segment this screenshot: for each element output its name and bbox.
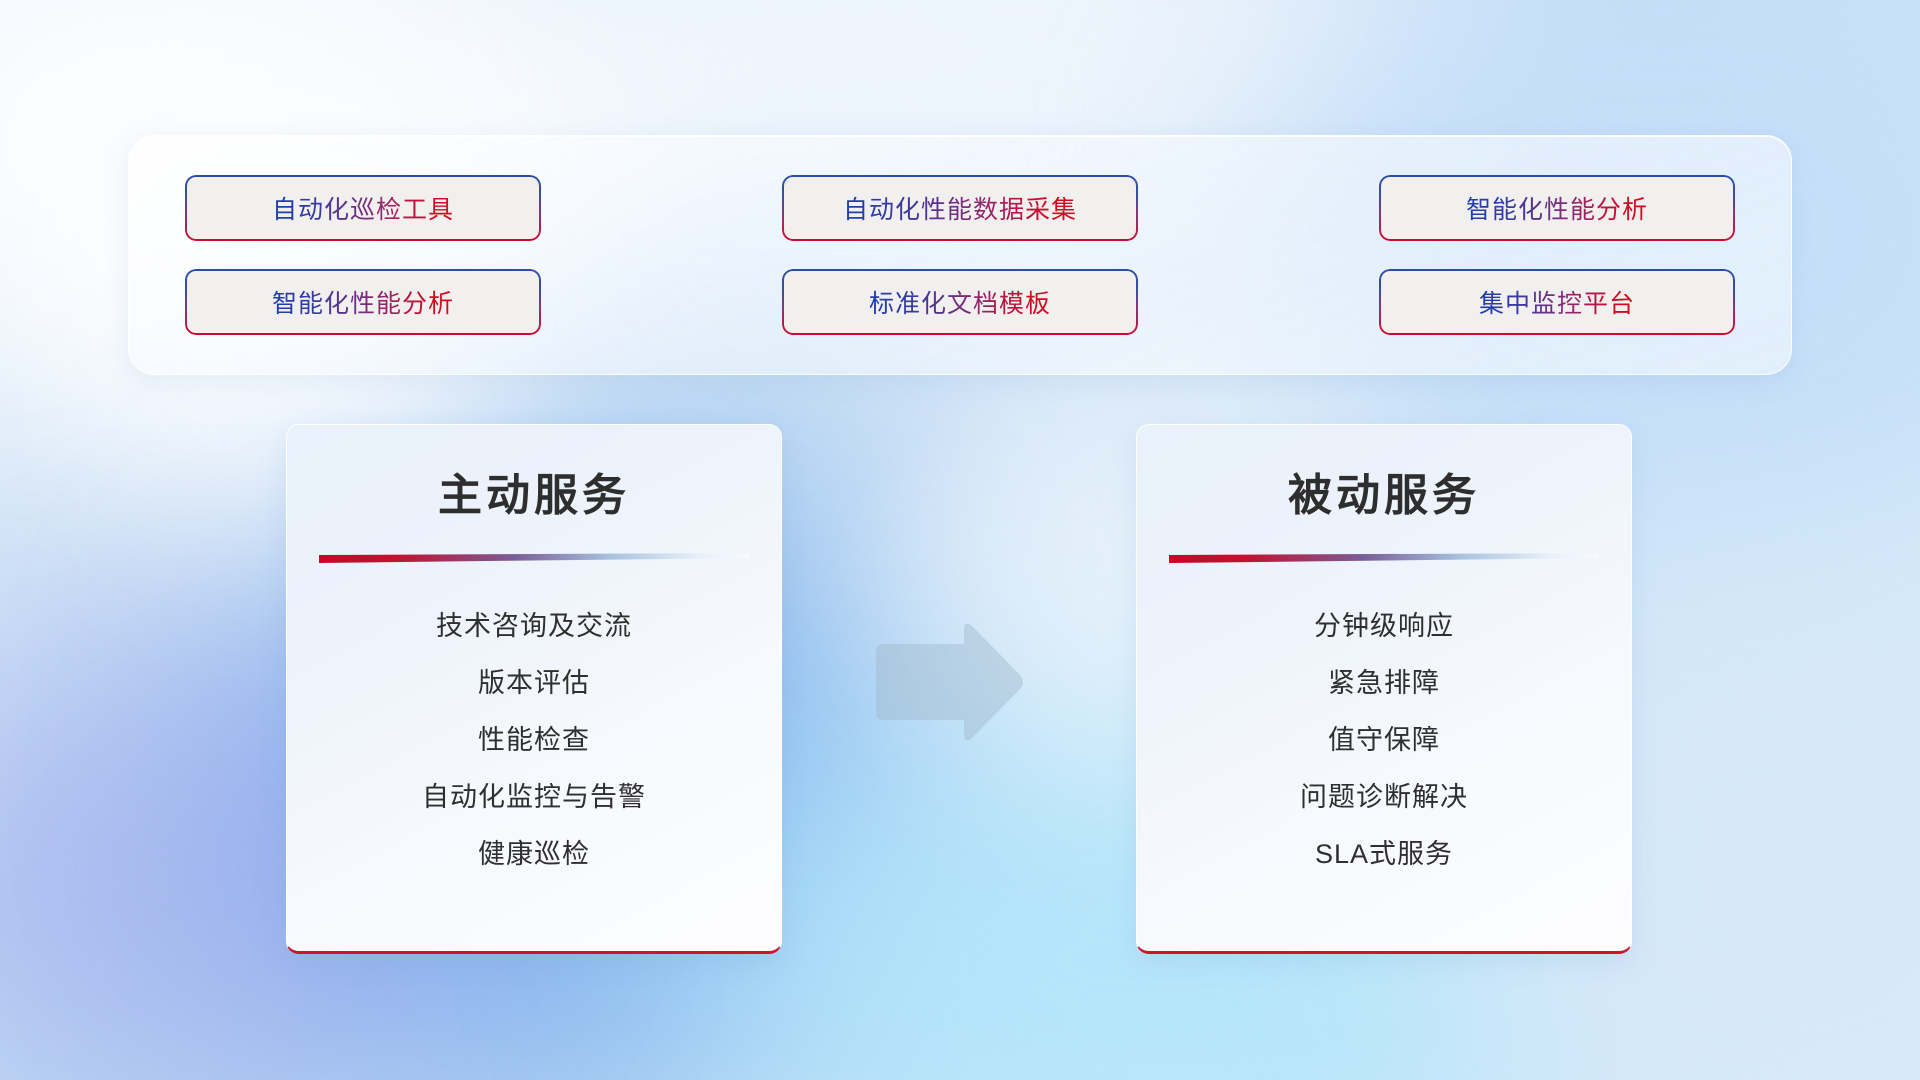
service-card-proactive: 主动服务 技术咨询及交流 版本评估 性能检查 自动化监控与告警 健康巡检 [286, 424, 782, 954]
card-title: 被动服务 [1137, 459, 1631, 523]
capability-pill-label: 自动化性能数据采集 [843, 190, 1077, 226]
list-item: 性能检查 [287, 712, 781, 769]
capability-pill[interactable]: 标准化文档模板 [782, 269, 1138, 335]
card-item-list: 分钟级响应 紧急排障 值守保障 问题诊断解决 SLA式服务 [1137, 598, 1631, 883]
capability-row-1: 自动化巡检工具 自动化性能数据采集 智能化性能分析 [185, 175, 1735, 241]
capability-pill[interactable]: 智能化性能分析 [185, 269, 541, 335]
card-title: 主动服务 [287, 459, 781, 523]
capability-pill-label: 智能化性能分析 [1466, 190, 1648, 226]
capability-pill[interactable]: 智能化性能分析 [1379, 175, 1735, 241]
capability-row-2: 智能化性能分析 标准化文档模板 集中监控平台 [185, 269, 1735, 335]
card-divider [319, 553, 749, 564]
list-item: 版本评估 [287, 655, 781, 712]
list-item: 紧急排障 [1137, 655, 1631, 712]
list-item: 问题诊断解决 [1137, 769, 1631, 826]
list-item: 分钟级响应 [1137, 598, 1631, 655]
capability-panel: 自动化巡检工具 自动化性能数据采集 智能化性能分析 智能化性能分析 标准化文档模… [128, 135, 1792, 375]
list-item: 技术咨询及交流 [287, 598, 781, 655]
card-item-list: 技术咨询及交流 版本评估 性能检查 自动化监控与告警 健康巡检 [287, 598, 781, 883]
capability-pill[interactable]: 自动化性能数据采集 [782, 175, 1138, 241]
capability-pill-label: 自动化巡检工具 [272, 190, 454, 226]
capability-pill-label: 智能化性能分析 [272, 284, 454, 320]
list-item: 值守保障 [1137, 712, 1631, 769]
list-item: SLA式服务 [1137, 826, 1631, 883]
capability-pill-label: 集中监控平台 [1479, 284, 1635, 320]
list-item: 健康巡检 [287, 826, 781, 883]
right-arrow-icon [868, 618, 1028, 748]
service-card-reactive: 被动服务 分钟级响应 紧急排障 值守保障 问题诊断解决 SLA式服务 [1136, 424, 1632, 954]
capability-pill-label: 标准化文档模板 [869, 284, 1051, 320]
card-divider [1169, 553, 1599, 564]
list-item: 自动化监控与告警 [287, 769, 781, 826]
capability-pill[interactable]: 集中监控平台 [1379, 269, 1735, 335]
capability-pill[interactable]: 自动化巡检工具 [185, 175, 541, 241]
